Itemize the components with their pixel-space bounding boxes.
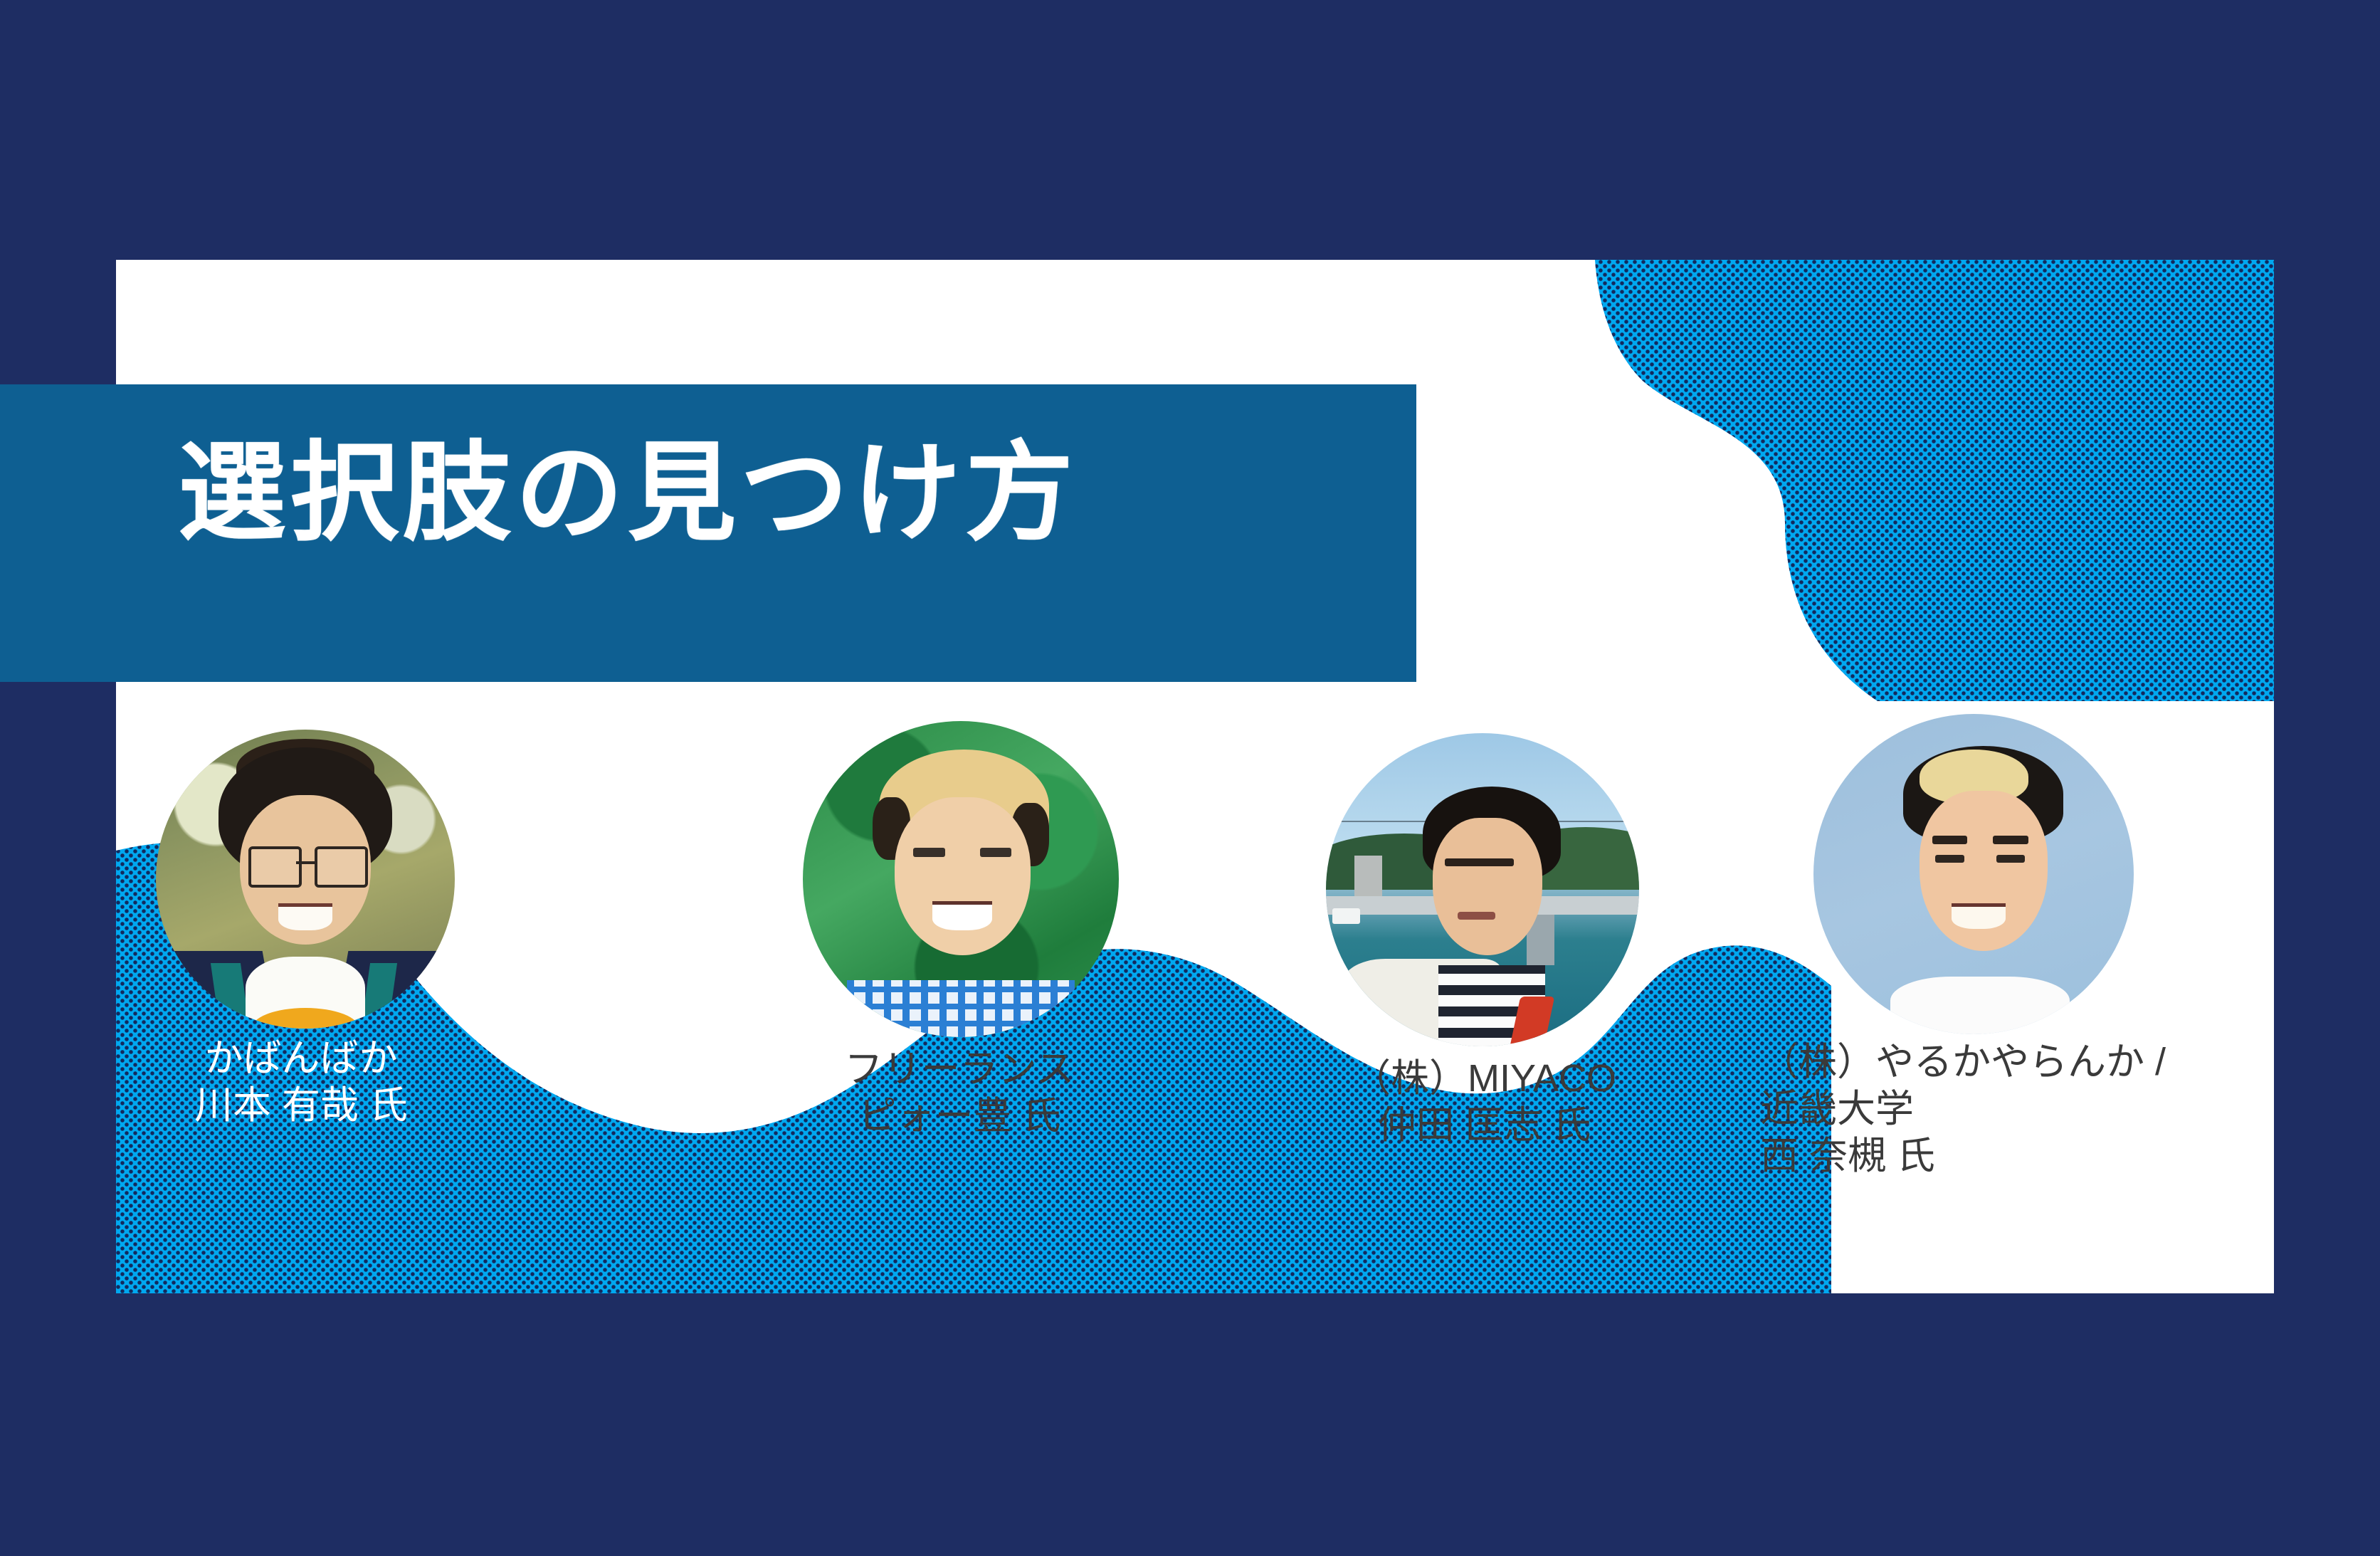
speaker-photo-1 — [156, 730, 455, 1029]
eye-left — [1935, 855, 1964, 863]
speaker-caption-4: （株）やるかやらんか / 近畿大学 西 奈槻 氏 — [1760, 1039, 2230, 1180]
eye-right — [980, 848, 1011, 857]
mouth — [278, 903, 332, 931]
speaker-caption-3: （株）MIYACO 仲田 匡志 氏 — [1290, 1056, 1678, 1150]
speaker-photo-3 — [1326, 733, 1639, 1046]
eyebrow-right — [1993, 836, 2028, 844]
mouth — [932, 901, 992, 930]
mouth — [1458, 912, 1495, 920]
speaker-photo-2 — [803, 721, 1119, 1037]
glasses-bridge — [296, 861, 314, 864]
eye-left — [913, 848, 944, 857]
speaker-list: かばんばか 川本 有哉 氏 フリーランス ピォー豊 氏 — [116, 260, 2274, 1293]
speaker-caption-2: フリーランス ピォー豊 氏 — [757, 1046, 1162, 1140]
eyebrow-left — [1932, 836, 1968, 844]
building — [1354, 856, 1383, 900]
glasses-left-lens — [248, 846, 302, 888]
glasses-right-lens — [315, 846, 368, 888]
eyebrow — [1445, 858, 1514, 866]
plaid-shirt — [847, 980, 1075, 1037]
white-tshirt — [1890, 977, 2070, 1034]
face — [895, 797, 1031, 955]
speaker-photo-4 — [1813, 714, 2134, 1034]
speaker-caption-1: かばんばか 川本 有哉 氏 — [116, 1036, 486, 1130]
eye-right — [1996, 855, 2026, 863]
white-van — [1332, 908, 1361, 924]
face — [1433, 818, 1542, 956]
mouth — [1952, 903, 2006, 930]
